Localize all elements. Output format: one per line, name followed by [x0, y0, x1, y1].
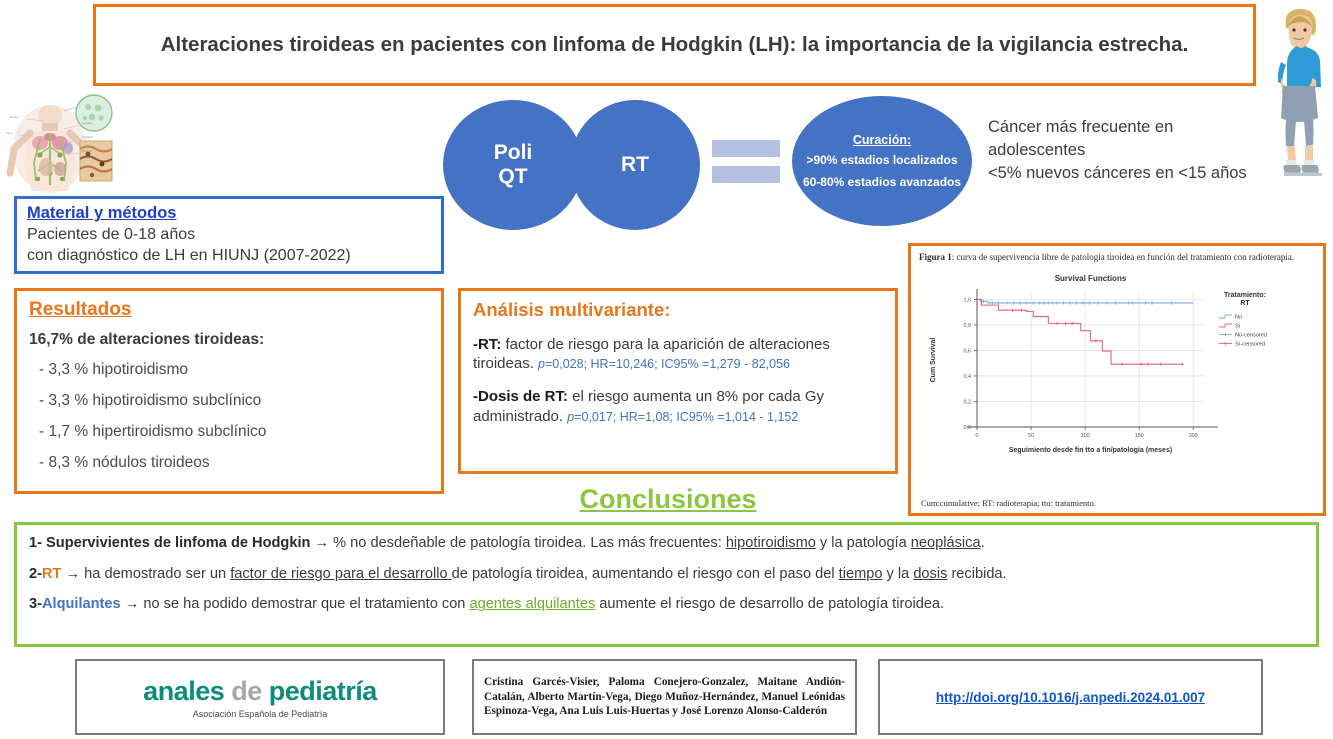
equals-bar-bottom [712, 166, 780, 183]
authors-list: Cristina Garcés-Visier, Paloma Conejero-… [484, 675, 845, 720]
svg-text:Timo: Timo [6, 131, 13, 135]
diagram-circle-curacion: Curación: >90% estadios localizados 60-8… [792, 96, 972, 226]
c3-text-a: no se ha podido demostrar que el tratami… [139, 596, 469, 612]
results-item: - 1,7 % hipertiroidismo subclínico [39, 423, 429, 441]
svg-text:Nodos: Nodos [10, 115, 19, 119]
rt-label: -RT: [473, 336, 501, 353]
dose-label: -Dosis de RT: [473, 388, 568, 405]
c2-num: 2- [29, 566, 42, 582]
svg-text:Cum Survival: Cum Survival [930, 337, 937, 382]
c2-arrow: → [66, 566, 81, 582]
svg-text:0,2: 0,2 [964, 399, 972, 405]
svg-text:50: 50 [1028, 433, 1034, 439]
svg-text:0,4: 0,4 [964, 374, 972, 380]
poli-qt-line2: QT [498, 165, 527, 188]
logo-word-anales: anales [143, 676, 224, 706]
equals-sign-icon [712, 140, 780, 190]
conclusions-heading: Conclusiones [546, 484, 790, 515]
c1-underline-2: neoplásica [911, 535, 981, 551]
epidemiology-note: Cáncer más frecuente en adolescentes <5%… [988, 116, 1278, 184]
figure-panel: Figura 1: curva de supervivencia libre d… [908, 243, 1326, 516]
rt-label: RT [621, 153, 649, 177]
c2-text-c: y la [882, 566, 913, 582]
material-methods-line-1: Pacientes de 0-18 años [27, 225, 431, 246]
survival-chart: Survival Functions0,00,20,40,60,81,00501… [919, 267, 1319, 472]
poli-qt-line1: Poli [494, 141, 533, 164]
results-item: - 3,3 % hipotiroidismo subclínico [39, 392, 429, 410]
c3-num: 3- [29, 596, 42, 612]
logo-subtitle: Asociación Española de Pediatría [193, 709, 328, 719]
c3-keyword-alquilantes: Alquilantes [42, 596, 121, 612]
poster-title-box: Alteraciones tiroideas en pacientes con … [93, 4, 1256, 86]
logo-wordmark: anales de pediatría [143, 676, 377, 707]
svg-text:0: 0 [976, 433, 979, 439]
page-title: Alteraciones tiroideas en pacientes con … [161, 32, 1189, 59]
curacion-title: Curación: [853, 133, 911, 147]
note-line-1: Cáncer más frecuente en [988, 116, 1278, 139]
svg-text:RT: RT [1240, 300, 1250, 307]
logo-word-pediatria: pediatría [269, 676, 377, 706]
multivariate-analysis-title: Análisis multivariante: [473, 299, 883, 321]
results-item: - 8,3 % nódulos tiroideos [39, 454, 429, 472]
figure-label: Figura 1 [919, 252, 952, 262]
diagram-circle-rt: RT [570, 100, 700, 230]
results-box: Resultados 16,7% de alteraciones tiroide… [14, 288, 444, 494]
c1-lead: Supervivientes de linfoma de Hodgkin [46, 535, 310, 551]
rt-stats-rest: =0,028; HR=10,246; IC95% =1,279 - 82,056 [545, 357, 790, 371]
svg-text:0,0: 0,0 [964, 425, 972, 431]
figure-footnote: Cum:cumulative; RT: radioterapia; tto: t… [921, 498, 1096, 508]
svg-text:Tratamiento:: Tratamiento: [1224, 292, 1266, 299]
svg-text:Linfocito: Linfocito [82, 135, 94, 139]
svg-text:0,6: 0,6 [964, 348, 972, 354]
material-methods-title: Material y métodos [27, 204, 431, 223]
c1-text-a: % no desdeñable de patología tiroidea. L… [329, 535, 726, 551]
svg-text:Sí: Sí [1235, 323, 1241, 329]
c1-underline-1: hipotiroidismo [726, 535, 816, 551]
figure-caption-text: : curva de supervivencia libre de patolo… [952, 252, 1294, 262]
svg-text:150: 150 [1135, 433, 1144, 439]
figure-caption: Figura 1: curva de supervivencia libre d… [919, 252, 1315, 264]
c1-arrow: → [314, 535, 329, 551]
c2-underline-2: tiempo [839, 566, 883, 582]
poli-qt-label: Poli QT [494, 141, 533, 189]
material-methods-line-2: con diagnóstico de LH en HIUNJ (2007-202… [27, 246, 431, 267]
lymphatic-system-illustration: Nodos Timo Ganglio Linfocito Médula [4, 93, 116, 198]
poster-canvas: Alteraciones tiroideas en pacientes con … [0, 0, 1333, 739]
svg-text:Survival Functions: Survival Functions [1055, 274, 1127, 283]
p-italic: p [538, 357, 545, 371]
c1-text-b: y la patología [816, 535, 911, 551]
c3-text-b: aumente el riesgo de desarrollo de patol… [595, 596, 944, 612]
dose-stats: p=0,017; HR=1,08; IC95% =1,014 - 1,152 [567, 410, 798, 424]
c1-text-c: . [981, 535, 985, 551]
svg-text:No: No [1235, 314, 1242, 320]
c2-underline-3: dosis [913, 566, 947, 582]
equals-bar-top [712, 140, 780, 157]
note-line-3: <5% nuevos cánceres en <15 años [988, 162, 1278, 185]
doi-link[interactable]: http://doi.org/10.1016/j.anpedi.2024.01.… [936, 690, 1205, 705]
multivariate-item-dose: -Dosis de RT: el riesgo aumenta un 8% po… [473, 387, 883, 425]
dose-stats-rest: =0,017; HR=1,08; IC95% =1,014 - 1,152 [574, 410, 798, 424]
c2-text-d: recibida. [947, 566, 1006, 582]
results-item: - 3,3 % hipotiroidismo [39, 361, 429, 379]
c2-underline-1: factor de riesgo para el desarrollo [230, 566, 451, 582]
curacion-line-2: 60-80% estadios avanzados [803, 175, 961, 189]
multivariate-item-rt: -RT: factor de riesgo para la aparición … [473, 335, 883, 373]
diagram-circle-poli-qt: Poli QT [443, 100, 583, 230]
results-lead: 16,7% de alteraciones tiroideas: [29, 331, 429, 349]
svg-text:Seguimiento desde fin tto a fi: Seguimiento desde fin tto a fin/patologí… [1009, 447, 1172, 454]
c1-num: 1- [29, 535, 42, 551]
anales-pediatria-logo: anales de pediatría Asociación Española … [75, 659, 445, 735]
conclusion-item-1: 1- Supervivientes de linfoma de Hodgkin … [29, 534, 1304, 554]
svg-text:1,0: 1,0 [964, 297, 972, 303]
svg-text:0,8: 0,8 [964, 323, 972, 329]
svg-text:Ganglio: Ganglio [82, 121, 93, 125]
doi-box: http://doi.org/10.1016/j.anpedi.2024.01.… [878, 659, 1263, 735]
c2-text-b: de patología tiroidea, aumentando el rie… [452, 566, 839, 582]
c2-keyword-rt: RT [42, 566, 61, 582]
note-line-2: adolescentes [988, 139, 1278, 162]
curacion-line-1: >90% estadios localizados [806, 153, 957, 167]
c3-arrow: → [125, 596, 140, 612]
rt-stats: p=0,028; HR=10,246; IC95% =1,279 - 82,05… [538, 357, 790, 371]
svg-text:200: 200 [1189, 433, 1198, 439]
authors-box: Cristina Garcés-Visier, Paloma Conejero-… [472, 659, 857, 735]
svg-text:Sí-censored: Sí-censored [1235, 341, 1265, 347]
conclusion-item-2: 2-RT → ha demostrado ser un factor de ri… [29, 565, 1304, 585]
material-methods-box: Material y métodos Pacientes de 0-18 año… [14, 196, 444, 274]
logo-word-de: de [231, 676, 262, 706]
svg-text:100: 100 [1081, 433, 1090, 439]
c2-text-a: ha demostrado ser un [80, 566, 230, 582]
conclusions-box: 1- Supervivientes de linfoma de Hodgkin … [14, 522, 1319, 647]
svg-text:No-censored: No-censored [1235, 332, 1267, 338]
c3-underline-1: agentes alquilantes [469, 596, 595, 612]
svg-text:Médula: Médula [82, 149, 92, 153]
conclusion-item-3: 3-Alquilantes → no se ha podido demostra… [29, 595, 1304, 615]
multivariate-analysis-box: Análisis multivariante: -RT: factor de r… [458, 288, 898, 474]
results-title: Resultados [29, 299, 429, 321]
